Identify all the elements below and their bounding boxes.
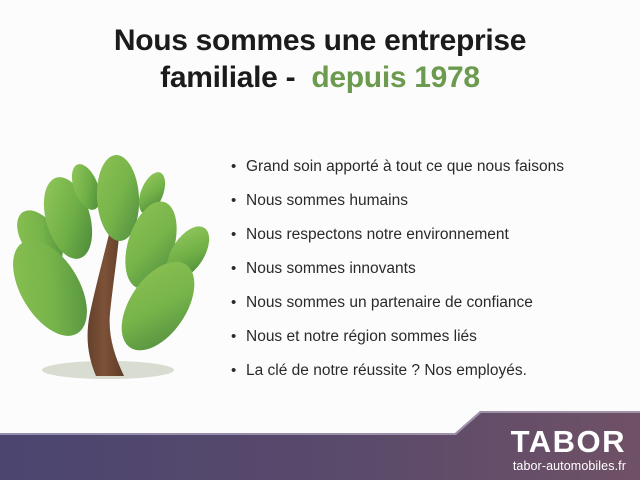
list-item: • Nous sommes innovants xyxy=(228,252,628,286)
tree-illustration xyxy=(8,143,218,393)
list-item-label: Nous respectons notre environnement xyxy=(246,226,509,243)
brand-wordmark: TABOR xyxy=(440,426,626,457)
list-item: • La clé de notre réussite ? Nos employé… xyxy=(228,354,628,388)
page-title-accent: depuis 1978 xyxy=(311,61,479,94)
footer-bar: TABOR tabor-automobiles.fr xyxy=(0,400,640,480)
brand-logo: TABOR tabor-automobiles.fr xyxy=(440,426,626,474)
bullet-icon: • xyxy=(231,218,236,252)
page-title-dash: - xyxy=(286,61,296,94)
bullet-icon: • xyxy=(231,354,236,388)
page-title-line-1: Nous sommes une entreprise xyxy=(0,24,640,59)
bullet-icon: • xyxy=(231,252,236,286)
list-item-label: La clé de notre réussite ? Nos employés. xyxy=(246,362,527,379)
slide-canvas: Nous sommes une entreprise familiale - d… xyxy=(0,0,640,480)
list-item-label: Nous sommes un partenaire de confiance xyxy=(246,294,533,311)
list-item-label: Nous sommes innovants xyxy=(246,260,416,277)
list-item-label: Grand soin apporté à tout ce que nous fa… xyxy=(246,158,564,175)
page-title-line-2-main: familiale xyxy=(160,61,277,94)
brand-website-url: tabor-automobiles.fr xyxy=(440,460,626,474)
value-points-list: • Grand soin apporté à tout ce que nous … xyxy=(228,150,628,388)
list-item: • Nous et notre région sommes liés xyxy=(228,320,628,354)
tree-trunk xyxy=(88,222,124,376)
list-item: • Grand soin apporté à tout ce que nous … xyxy=(228,150,628,184)
bullet-icon: • xyxy=(231,320,236,354)
list-item-label: Nous sommes humains xyxy=(246,192,408,209)
bullet-icon: • xyxy=(231,286,236,320)
page-title-line-2: familiale - depuis 1978 xyxy=(0,61,640,96)
list-item: • Nous sommes un partenaire de confiance xyxy=(228,286,628,320)
list-item: • Nous respectons notre environnement xyxy=(228,218,628,252)
list-item-label: Nous et notre région sommes liés xyxy=(246,328,477,345)
bullet-icon: • xyxy=(231,150,236,184)
bullet-icon: • xyxy=(231,184,236,218)
page-title: Nous sommes une entreprise familiale - d… xyxy=(0,24,640,96)
list-item: • Nous sommes humains xyxy=(228,184,628,218)
